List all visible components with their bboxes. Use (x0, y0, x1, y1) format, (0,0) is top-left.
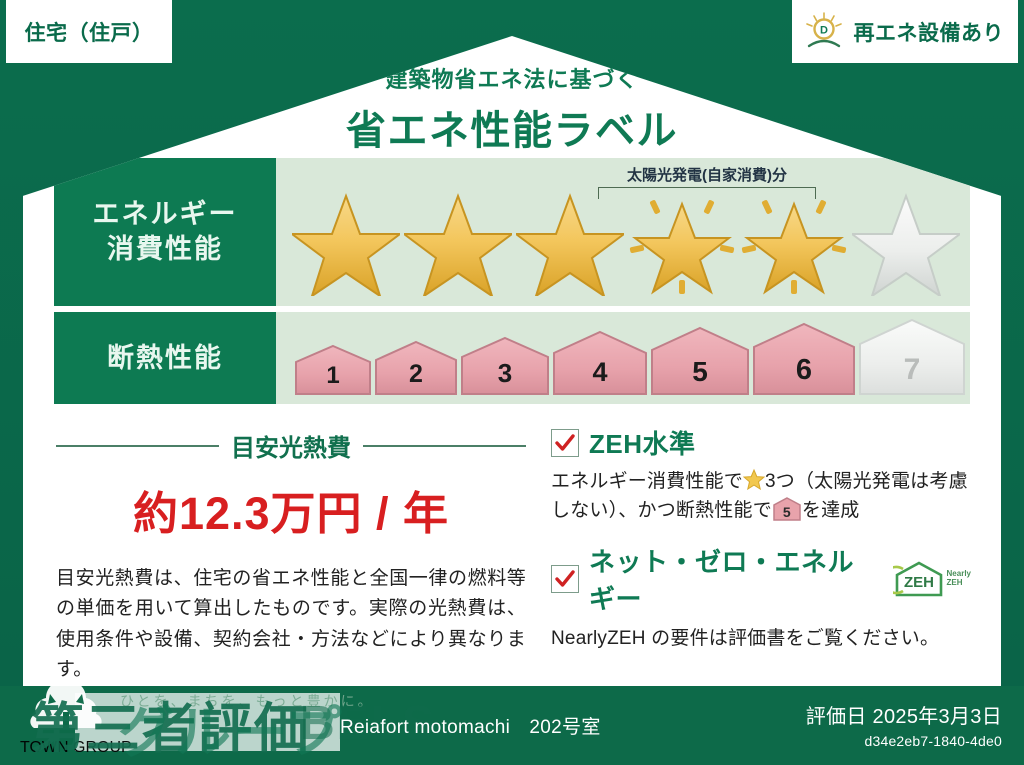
housing-type-tag: 住宅（住戸） (6, 0, 172, 63)
inline-house-level: 5 (772, 502, 802, 524)
insulation-house-scale: 1 2 3 (294, 318, 966, 396)
energy-cost-block: 目安光熱費 約12.3万円 / 年 目安光熱費は、住宅の省エネ性能と全国一律の燃… (56, 428, 526, 686)
zeh-logo-text: ZEH (904, 574, 934, 591)
energy-label-root: 住宅（住戸） D 再エネ設備あり 建築物省エネ法に基づく 省エネ性能ラ (0, 0, 1024, 765)
insulation-rating-area: 1 2 3 (276, 312, 970, 404)
star-6-empty (852, 184, 960, 296)
solar-sun-icon: D (802, 10, 846, 54)
watermark-group: グループ (118, 688, 343, 765)
title-block: 建築物省エネ法に基づく 省エネ性能ラベル (23, 62, 1001, 156)
net-zero-title: ネット・ゼロ・エネルギー (589, 542, 877, 616)
page-title: 省エネ性能ラベル (23, 98, 1001, 156)
watermark-backdrop (75, 693, 340, 751)
insulation-level-1: 1 (294, 344, 372, 396)
check-icon (554, 432, 576, 454)
check-icon (554, 568, 576, 590)
insulation-level-6-number: 6 (752, 354, 856, 387)
zeh-logo: ZEH Nearly ZEH (893, 560, 971, 598)
heading-rule-right (363, 445, 526, 447)
energy-performance-row: エネルギー 消費性能 太陽光発電(自家消費)分 (54, 158, 970, 306)
star-1 (292, 184, 400, 296)
insulation-level-5: 5 (650, 326, 750, 396)
star-rating (276, 184, 970, 296)
insulation-level-4-number: 4 (552, 357, 648, 388)
insulation-level-1-number: 1 (294, 362, 372, 390)
zeh-standard-description: エネルギー消費性能で3つ（太陽光発電は考慮しない）、かつ断熱性能で5を達成 (551, 467, 971, 526)
insulation-level-7-number: 7 (858, 353, 966, 387)
star-4 (628, 184, 736, 296)
insulation-performance-label: 断熱性能 (54, 312, 276, 404)
energy-label-line2: 消費性能 (107, 232, 223, 267)
energy-performance-label: エネルギー 消費性能 (54, 158, 276, 306)
zeh-desc-part3: を達成 (802, 500, 860, 521)
title-subtitle: 建築物省エネ法に基づく (23, 62, 1001, 94)
net-zero-checkbox (551, 565, 579, 593)
town-group-label: TOWN GROUP (20, 739, 132, 757)
insulation-level-6: 6 (752, 322, 856, 396)
inline-star-icon (743, 468, 765, 490)
housing-type-label: 住宅（住戸） (25, 17, 154, 47)
insulation-level-2: 2 (374, 340, 458, 396)
watermark-third-party: 第三者評価 (30, 684, 310, 763)
renewable-equipment-badge: D 再エネ設備あり (792, 0, 1019, 63)
energy-cost-value: 約12.3万円 / 年 (56, 477, 526, 542)
watermark-tagline: ひとを、まちを、もっと豊かに。 (120, 691, 375, 711)
energy-cost-heading: 目安光熱費 (231, 428, 351, 463)
net-zero-row: ネット・ゼロ・エネルギー ZEH Nearly ZEH (551, 542, 971, 616)
svg-text:D: D (820, 24, 828, 36)
insulation-level-3: 3 (460, 336, 550, 396)
insulation-label-text: 断熱性能 (107, 341, 223, 376)
energy-rating-area: 太陽光発電(自家消費)分 (276, 158, 970, 306)
zeh-standard-checkbox (551, 429, 579, 457)
energy-cost-note: 目安光熱費は、住宅の省エネ性能と全国一律の燃料等の単価を用いて算出したものです。… (56, 564, 526, 686)
footer: TOWN GROUP ひとを、まちを、もっと豊かに。 第三者評価 BELS グル… (0, 686, 1024, 765)
star-5 (740, 184, 848, 296)
energy-label-line1: エネルギー (93, 197, 238, 232)
insulation-level-3-number: 3 (460, 358, 550, 389)
star-2 (404, 184, 512, 296)
heading-rule-left (56, 445, 219, 447)
zeh-house-icon: ZEH (893, 560, 945, 598)
zeh-desc-part1: エネルギー消費性能で (551, 471, 743, 492)
solar-bracket-label: 太陽光発電(自家消費)分 (598, 164, 816, 185)
insulation-level-5-number: 5 (650, 356, 750, 388)
zeh-block: ZEH水準 エネルギー消費性能で3つ（太陽光発電は考慮しない）、かつ断熱性能で5… (551, 424, 971, 653)
energy-cost-heading-row: 目安光熱費 (56, 428, 526, 463)
insulation-level-7: 7 (858, 318, 966, 396)
evaluation-id: d34e2eb7-1840-4de0 (806, 733, 1002, 749)
star-3 (516, 184, 624, 296)
evaluation-info: 評価日 2025年3月3日 d34e2eb7-1840-4de0 (806, 700, 1002, 749)
insulation-level-2-number: 2 (374, 360, 458, 389)
nearly-line2: ZEH (947, 579, 971, 587)
property-name: Reiafort motomachi 202号室 (340, 712, 601, 739)
renewable-badge-label: 再エネ設備あり (854, 17, 1005, 47)
nearly-zeh-sublabel: Nearly ZEH (947, 570, 971, 587)
label-panel: 建築物省エネ法に基づく 省エネ性能ラベル エネルギー 消費性能 太陽光発電(自家… (23, 36, 1001, 686)
net-zero-description: NearlyZEH の要件は評価書をご覧ください。 (551, 624, 971, 653)
performance-rows: エネルギー 消費性能 太陽光発電(自家消費)分 (54, 158, 970, 410)
zeh-star-count: 3つ (765, 471, 795, 492)
inline-house-badge: 5 (772, 497, 802, 521)
insulation-level-4: 4 (552, 330, 648, 396)
zeh-standard-title: ZEH水準 (589, 424, 696, 461)
zeh-standard-row: ZEH水準 (551, 424, 971, 461)
town-group-tree-logo: TOWN GROUP (20, 676, 132, 757)
insulation-performance-row: 断熱性能 1 (54, 312, 970, 404)
evaluation-date: 評価日 2025年3月3日 (806, 700, 1002, 729)
